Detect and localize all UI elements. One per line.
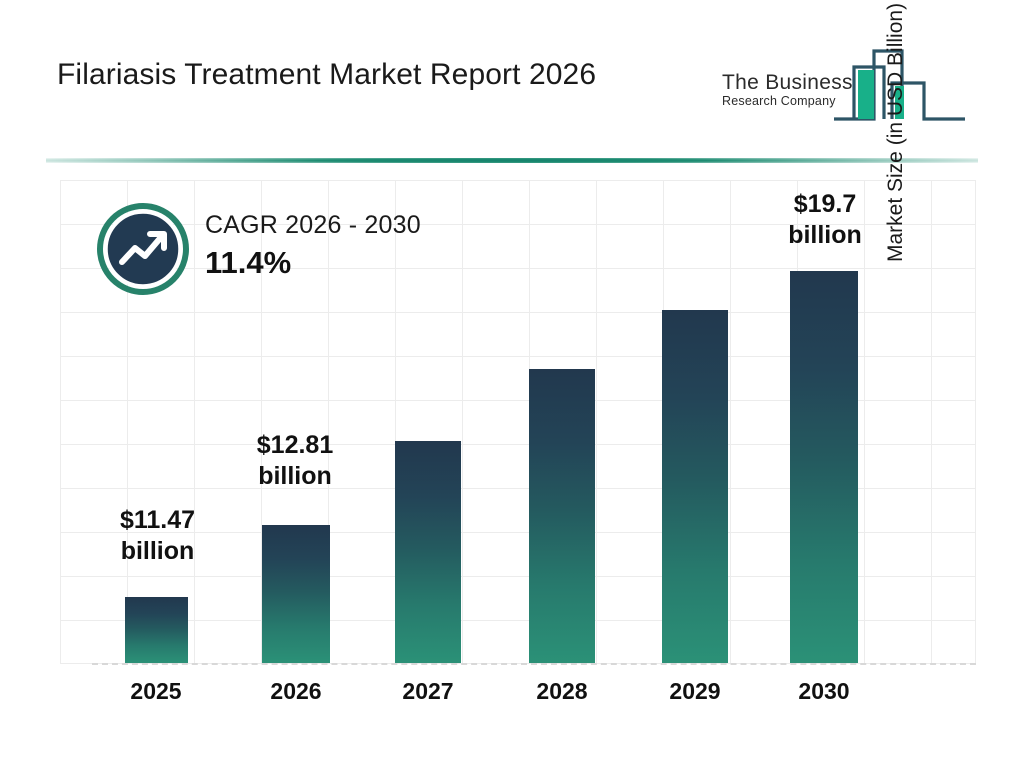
x-label-2025: 2025 xyxy=(101,678,211,705)
bar-label-2026-amount: $12.81 xyxy=(235,430,355,461)
axis-baseline xyxy=(92,663,976,665)
cagr-period-label: CAGR 2026 - 2030 xyxy=(205,208,421,242)
x-label-2030: 2030 xyxy=(769,678,879,705)
company-logo: The Business Research Company xyxy=(722,33,967,133)
bar-label-2030-amount: $19.7 xyxy=(765,189,885,220)
gridline-v xyxy=(730,180,731,664)
header: Filariasis Treatment Market Report 2026 … xyxy=(0,0,1024,160)
gridline-v xyxy=(975,180,976,664)
chart-page: Filariasis Treatment Market Report 2026 … xyxy=(0,0,1024,768)
x-label-2028: 2028 xyxy=(507,678,617,705)
bar-2030[interactable] xyxy=(790,271,858,663)
x-axis-labels: 2025 2026 2027 2028 2029 2030 xyxy=(60,678,976,718)
bar-2028[interactable] xyxy=(529,369,595,663)
bar-label-2030-unit: billion xyxy=(765,220,885,251)
gridline-v xyxy=(931,180,932,664)
bar-2025[interactable] xyxy=(125,597,188,663)
x-label-2029: 2029 xyxy=(640,678,750,705)
bar-2026[interactable] xyxy=(262,525,330,663)
bar-label-2025-unit: billion xyxy=(100,536,215,567)
gridline-v xyxy=(864,180,865,664)
cagr-text-block: CAGR 2026 - 2030 11.4% xyxy=(205,208,421,284)
bar-label-2026-unit: billion xyxy=(235,461,355,492)
header-divider xyxy=(46,158,978,163)
trend-arrow-icon xyxy=(97,203,189,295)
gridline-v xyxy=(60,180,61,664)
bar-label-2025: $11.47 billion xyxy=(100,505,215,567)
gridline-v xyxy=(596,180,597,664)
bar-label-2030: $19.7 billion xyxy=(765,189,885,251)
bar-label-2025-amount: $11.47 xyxy=(100,505,215,536)
cagr-badge: CAGR 2026 - 2030 11.4% xyxy=(97,203,517,298)
x-label-2027: 2027 xyxy=(373,678,483,705)
gridline-h xyxy=(60,180,976,181)
cagr-value: 11.4% xyxy=(205,242,421,284)
bar-2027[interactable] xyxy=(395,441,461,663)
bar-2029[interactable] xyxy=(662,310,728,663)
page-title: Filariasis Treatment Market Report 2026 xyxy=(57,52,697,98)
x-label-2026: 2026 xyxy=(241,678,351,705)
y-axis-title: Market Size (in USD Billion) xyxy=(884,0,908,262)
bar-label-2026: $12.81 billion xyxy=(235,430,355,492)
